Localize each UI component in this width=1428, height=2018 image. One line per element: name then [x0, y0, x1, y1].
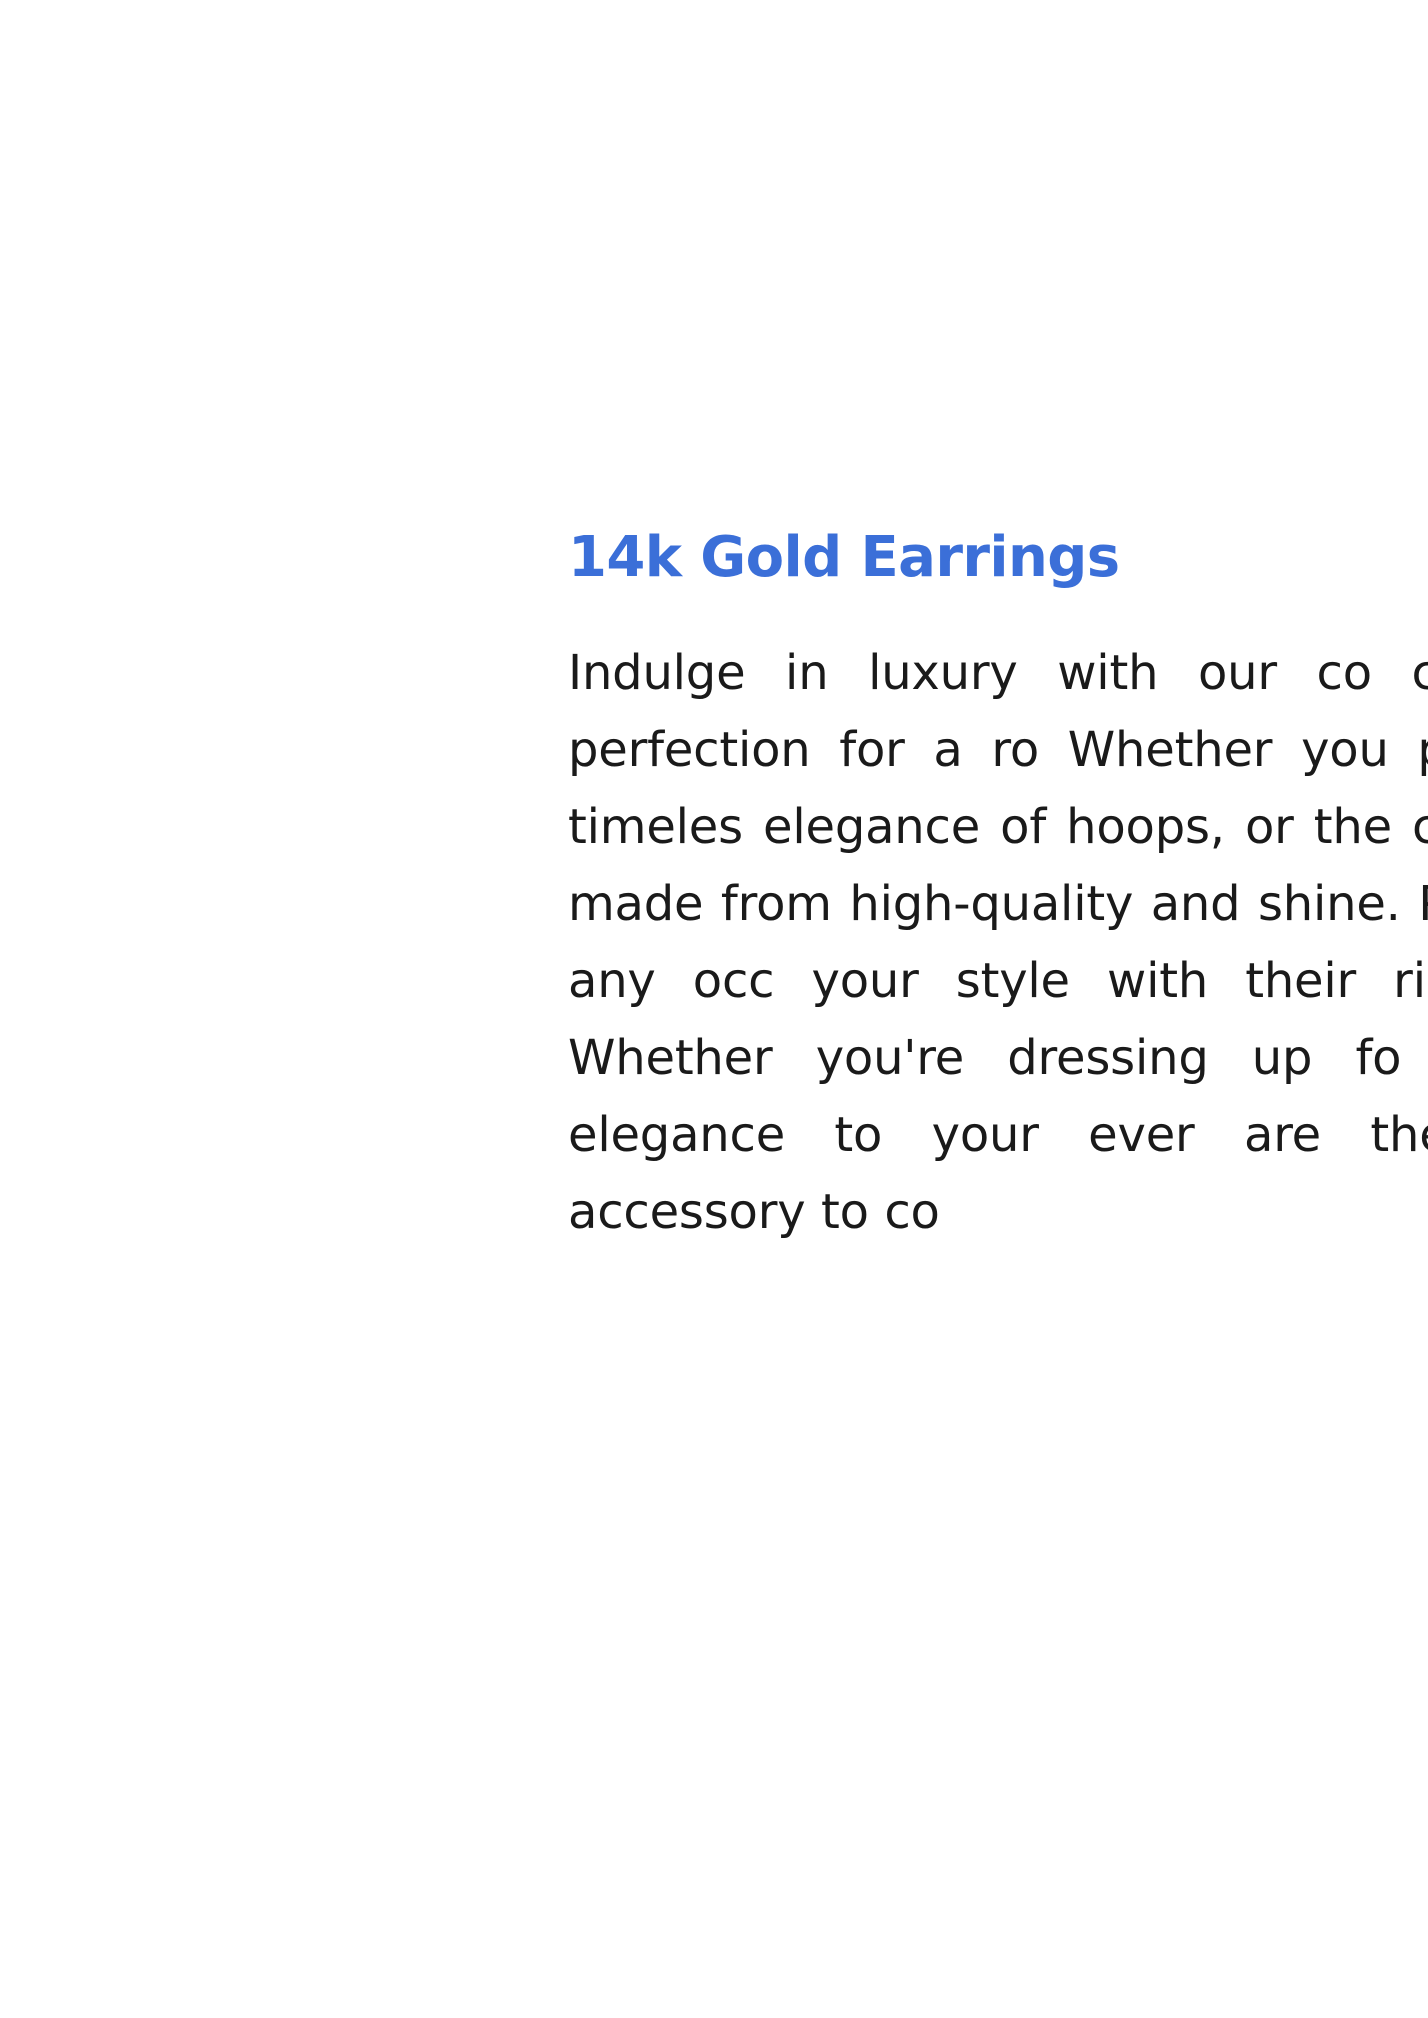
product-content-block: 14k Gold Earrings Indulge in luxury with… [568, 524, 1428, 1251]
product-description: Indulge in luxury with our co crafted to… [568, 592, 1428, 1251]
page-title: 14k Gold Earrings [568, 524, 1428, 592]
page-canvas: 14k Gold Earrings Indulge in luxury with… [0, 0, 1428, 2018]
